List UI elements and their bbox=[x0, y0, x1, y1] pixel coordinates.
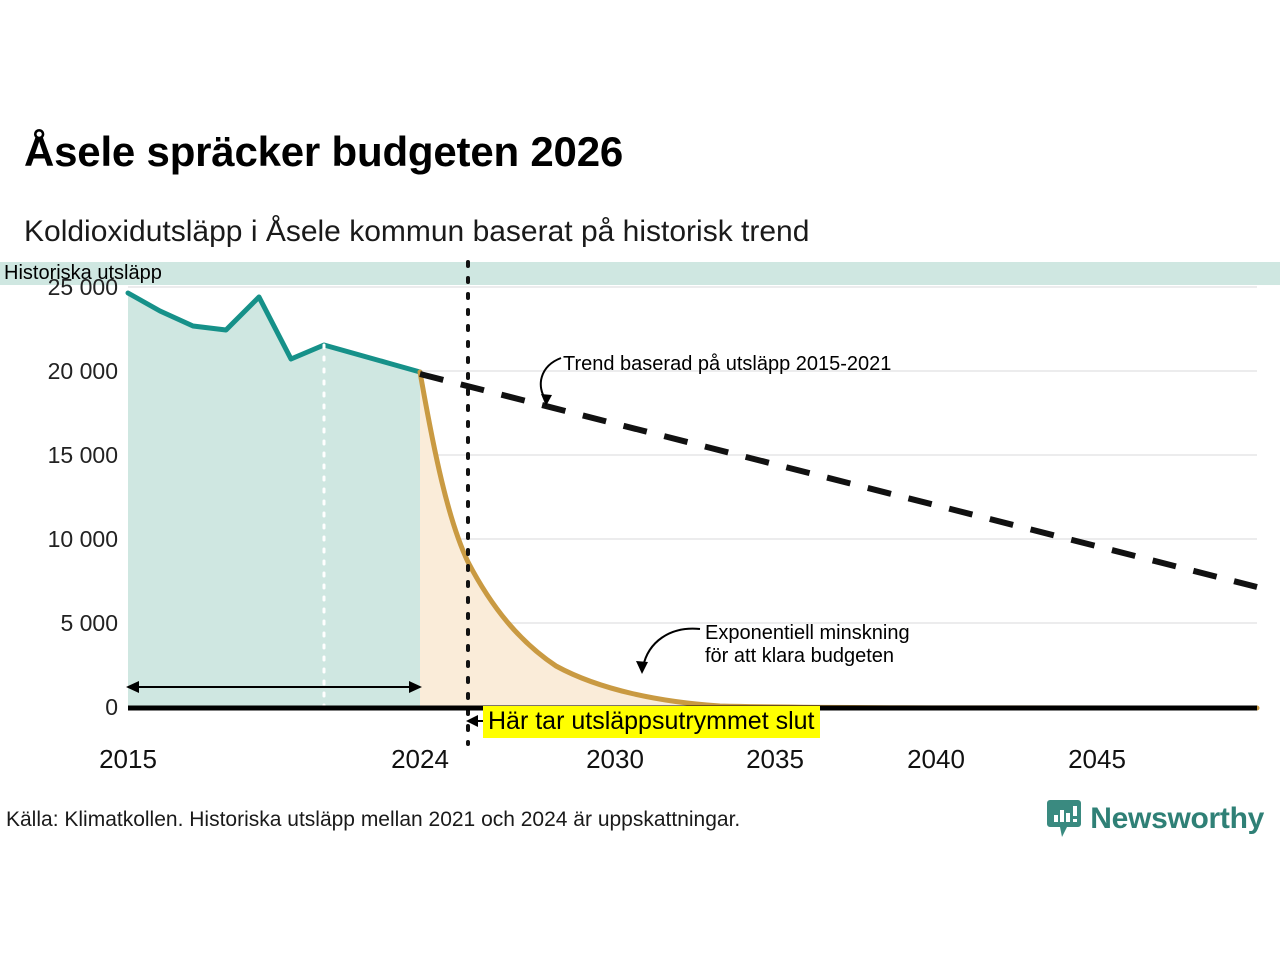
x-tick-2035: 2035 bbox=[746, 744, 804, 775]
exponential-annotation-line2: för att klara budgeten bbox=[705, 645, 910, 668]
newsworthy-wordmark: Newsworthy bbox=[1090, 802, 1264, 836]
x-axis-labels: 2015 2024 2030 2035 2040 2045 bbox=[0, 744, 1280, 794]
budget-end-label: Här tar utsläppsutrymmet slut bbox=[483, 706, 820, 738]
exponential-annotation-label: Exponentiell minskning för att klara bud… bbox=[705, 622, 910, 668]
trend-annotation-label: Trend baserad på utsläpp 2015-2021 bbox=[563, 353, 891, 376]
newsworthy-logo[interactable]: Newsworthy bbox=[1047, 800, 1264, 838]
chart-plot-svg bbox=[0, 262, 1280, 782]
x-tick-2024: 2024 bbox=[391, 744, 449, 775]
newsworthy-bubble-icon bbox=[1047, 800, 1081, 838]
page-subtitle: Koldioxidutsläpp i Åsele kommun baserat … bbox=[24, 215, 809, 249]
historical-area bbox=[128, 293, 420, 708]
x-tick-2040: 2040 bbox=[907, 744, 965, 775]
x-tick-2045: 2045 bbox=[1068, 744, 1126, 775]
chart-page: Åsele spräcker budgeten 2026 Koldioxidut… bbox=[0, 0, 1280, 960]
trend-dashed-line bbox=[420, 374, 1257, 587]
page-title: Åsele spräcker budgeten 2026 bbox=[24, 128, 623, 176]
exponential-annotation-arrowhead bbox=[636, 661, 648, 674]
chart-container: 25 000 20 000 15 000 10 000 5 000 0 bbox=[0, 262, 1280, 782]
exponential-annotation-arrow bbox=[643, 629, 700, 667]
x-tick-2015: 2015 bbox=[99, 744, 157, 775]
exponential-annotation-line1: Exponentiell minskning bbox=[705, 622, 910, 645]
x-tick-2030: 2030 bbox=[586, 744, 644, 775]
trend-annotation-arrow bbox=[541, 358, 561, 400]
source-note: Källa: Klimatkollen. Historiska utsläpp … bbox=[6, 808, 740, 832]
